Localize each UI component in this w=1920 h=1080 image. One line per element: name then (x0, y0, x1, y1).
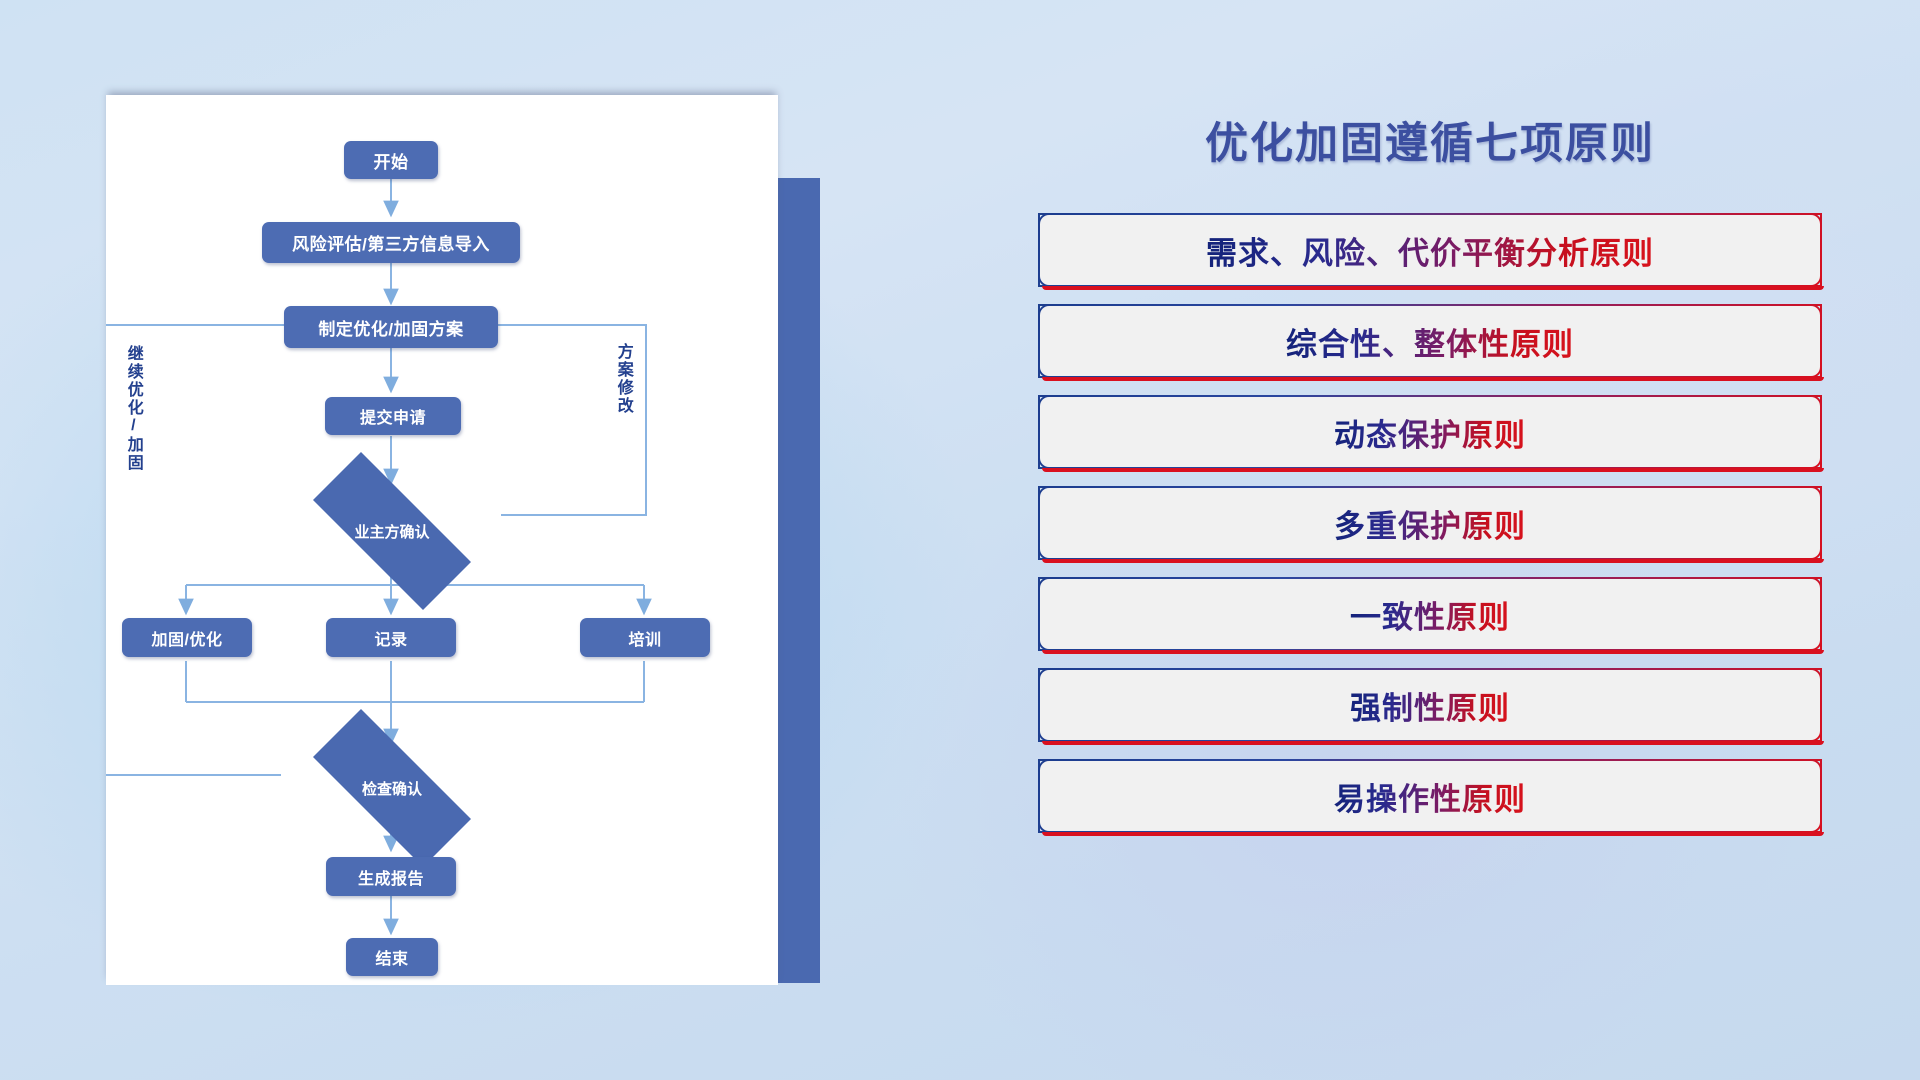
flow-node-plan[interactable]: 制定优化/加固方案 (284, 306, 498, 348)
flow-node-label: 记录 (374, 626, 407, 650)
flow-node-check-confirm[interactable]: 检查确认 (282, 740, 502, 836)
flow-node-submit-application[interactable]: 提交申请 (325, 397, 461, 435)
principle-label: 强制性原则 (1350, 683, 1510, 728)
principle-label: 需求、风险、代价平衡分析原则 (1206, 228, 1654, 273)
principle-card[interactable]: 一致性原则 (1038, 577, 1822, 651)
flow-node-reinforce[interactable]: 加固/优化 (122, 618, 252, 657)
flow-node-label: 业主方确认 (354, 521, 429, 542)
principle-label: 动态保护原则 (1334, 410, 1526, 455)
flow-node-label: 开始 (374, 148, 409, 173)
flow-node-generate-report[interactable]: 生成报告 (326, 857, 456, 896)
flow-node-owner-confirm[interactable]: 业主方确认 (282, 483, 502, 579)
principle-label: 多重保护原则 (1334, 501, 1526, 546)
flow-node-start[interactable]: 开始 (344, 141, 438, 179)
principle-card[interactable]: 强制性原则 (1038, 668, 1822, 742)
edge-label-plan-revision: 方案修改 (614, 343, 631, 415)
edge-label-continue-optimize: 继续优化/加固 (124, 345, 141, 472)
principle-card[interactable]: 综合性、整体性原则 (1038, 304, 1822, 378)
flow-node-label: 加固/优化 (152, 626, 223, 650)
flow-node-label: 检查确认 (362, 778, 422, 799)
panel-title: 优化加固遵循七项原则 (1020, 109, 1840, 171)
principle-card[interactable]: 易操作性原则 (1038, 759, 1822, 833)
flow-node-label: 风险评估/第三方信息导入 (292, 230, 490, 255)
flow-node-training[interactable]: 培训 (580, 618, 710, 657)
flowchart-card: 开始 风险评估/第三方信息导入 制定优化/加固方案 提交申请 业主方确认 加固/… (106, 95, 778, 985)
principles-list: 需求、风险、代价平衡分析原则 综合性、整体性原则 动态保护原则 多重保护原则 一… (1020, 213, 1840, 833)
principle-label: 易操作性原则 (1334, 774, 1526, 819)
principle-label: 综合性、整体性原则 (1286, 319, 1574, 364)
flow-node-end[interactable]: 结束 (346, 938, 438, 976)
flow-node-risk-assessment[interactable]: 风险评估/第三方信息导入 (262, 222, 520, 263)
flow-node-label: 结束 (375, 945, 408, 969)
flow-node-label: 生成报告 (358, 865, 424, 889)
principle-card[interactable]: 多重保护原则 (1038, 486, 1822, 560)
principle-card[interactable]: 动态保护原则 (1038, 395, 1822, 469)
principles-panel: 优化加固遵循七项原则 需求、风险、代价平衡分析原则 综合性、整体性原则 动态保护… (1020, 95, 1840, 995)
flow-node-label: 制定优化/加固方案 (318, 315, 463, 340)
principle-label: 一致性原则 (1350, 592, 1510, 637)
flow-node-label: 培训 (628, 626, 661, 650)
flow-node-label: 提交申请 (360, 404, 426, 428)
principle-card[interactable]: 需求、风险、代价平衡分析原则 (1038, 213, 1822, 287)
flow-node-record[interactable]: 记录 (326, 618, 456, 657)
